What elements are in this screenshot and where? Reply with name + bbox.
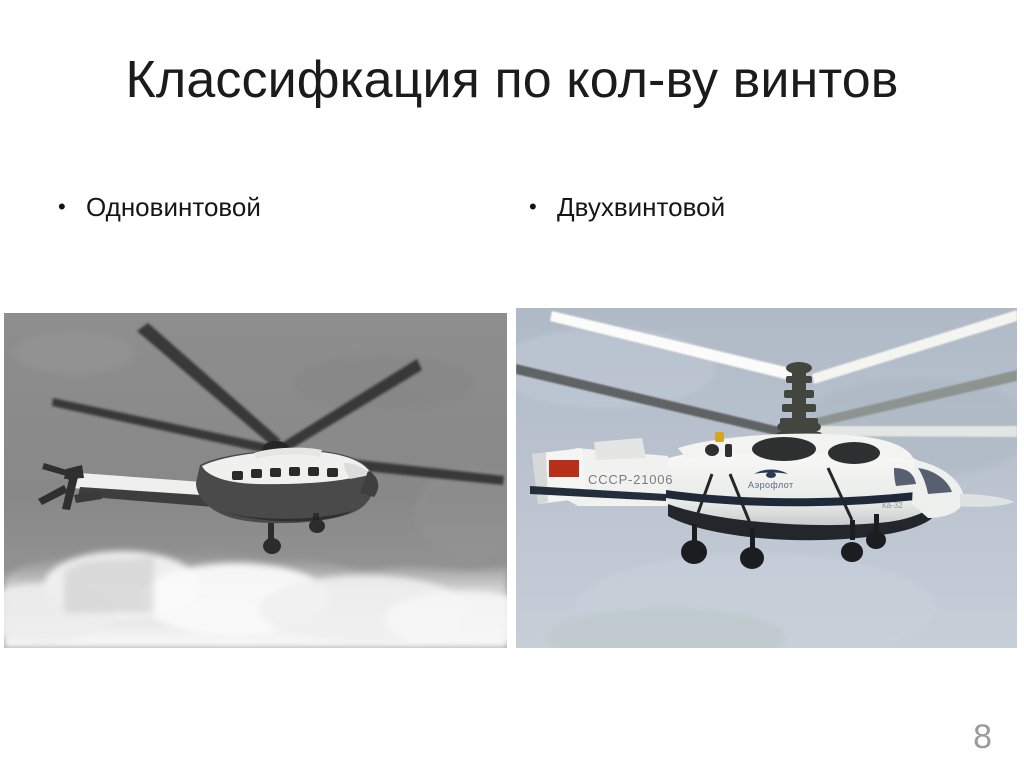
twin-rotor-helicopter-illustration: СССР-21006 Аэрофлот Ка-32	[516, 308, 1017, 648]
bullet-item-single-rotor: • Одновинтовой	[58, 190, 261, 224]
bullet-marker-icon: •	[58, 190, 86, 224]
bullet-label-single-rotor: Одновинтовой	[86, 190, 261, 224]
twin-rotor-helicopter-photo: СССР-21006 Аэрофлот Ка-32	[516, 308, 1017, 648]
single-rotor-helicopter-illustration	[4, 313, 507, 648]
bullet-item-twin-rotor: • Двухвинтовой	[529, 190, 725, 224]
model-text: Ка-32	[882, 501, 903, 510]
bullet-label-twin-rotor: Двухвинтовой	[557, 190, 725, 224]
page-number: 8	[973, 717, 992, 757]
registration-text: СССР-21006	[588, 472, 673, 487]
brand-text: Аэрофлот	[748, 480, 794, 490]
bullet-marker-icon: •	[529, 190, 557, 224]
page-title: Классифкация по кол-ву винтов	[0, 52, 1024, 108]
slide-canvas: Классифкация по кол-ву винтов • Одновинт…	[0, 0, 1024, 767]
single-rotor-helicopter-photo	[4, 313, 507, 648]
soviet-flag-marking	[549, 460, 579, 477]
